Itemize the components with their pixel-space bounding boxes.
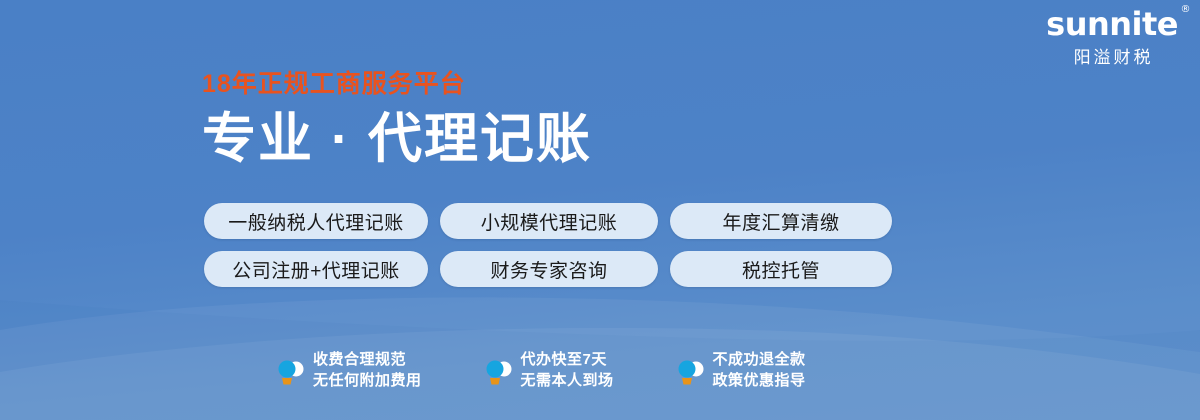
feature-line-2: 无任何附加费用 — [313, 373, 422, 390]
feature-item-speed: 代办快至7天 无需本人到场 — [484, 352, 614, 389]
feature-strip: 收费合理规范 无任何附加费用 代办快至7天 无需本人到场 不成功退全款 — [276, 352, 806, 389]
circle-badge-icon — [676, 356, 704, 386]
feature-text-pricing: 收费合理规范 无任何附加费用 — [313, 352, 422, 389]
logo-chinese-name: 阳溢财税 — [1046, 49, 1178, 66]
feature-text-guarantee: 不成功退全款 政策优惠指导 — [713, 352, 806, 389]
feature-item-guarantee: 不成功退全款 政策优惠指导 — [676, 352, 806, 389]
service-pill-expert-consulting[interactable]: 财务专家咨询 — [440, 251, 658, 287]
logo-wordmark: sunnite ® — [1046, 8, 1178, 40]
service-pill-general-taxpayer[interactable]: 一般纳税人代理记账 — [204, 203, 428, 239]
service-pill-grid: 一般纳税人代理记账 小规模代理记账 年度汇算清缴 公司注册+代理记账 财务专家咨… — [204, 203, 892, 287]
feature-line-1: 不成功退全款 — [713, 352, 806, 369]
registered-trademark-icon: ® — [1181, 5, 1191, 15]
feature-line-2: 无需本人到场 — [521, 373, 614, 390]
service-pill-small-scale[interactable]: 小规模代理记账 — [440, 203, 658, 239]
logo-wordmark-text: sunnite — [1046, 5, 1178, 43]
feature-item-pricing: 收费合理规范 无任何附加费用 — [276, 352, 422, 389]
feature-line-1: 收费合理规范 — [313, 352, 422, 369]
feature-text-speed: 代办快至7天 无需本人到场 — [521, 352, 614, 389]
page-title: 专业 · 代理记账 — [202, 111, 592, 168]
circle-badge-icon — [484, 356, 512, 386]
promo-banner: sunnite ® 阳溢财税 18年正规工商服务平台 专业 · 代理记账 一般纳… — [0, 0, 1200, 420]
hero-eyebrow: 18年正规工商服务平台 — [202, 72, 592, 97]
circle-badge-icon — [276, 356, 304, 386]
feature-line-2: 政策优惠指导 — [713, 373, 806, 390]
service-pill-annual-settlement[interactable]: 年度汇算清缴 — [670, 203, 892, 239]
hero-text-block: 18年正规工商服务平台 专业 · 代理记账 — [202, 72, 592, 168]
feature-line-1: 代办快至7天 — [521, 352, 614, 369]
service-pill-company-registration[interactable]: 公司注册+代理记账 — [204, 251, 428, 287]
brand-logo[interactable]: sunnite ® 阳溢财税 — [1046, 8, 1178, 66]
service-pill-tax-control-hosting[interactable]: 税控托管 — [670, 251, 892, 287]
